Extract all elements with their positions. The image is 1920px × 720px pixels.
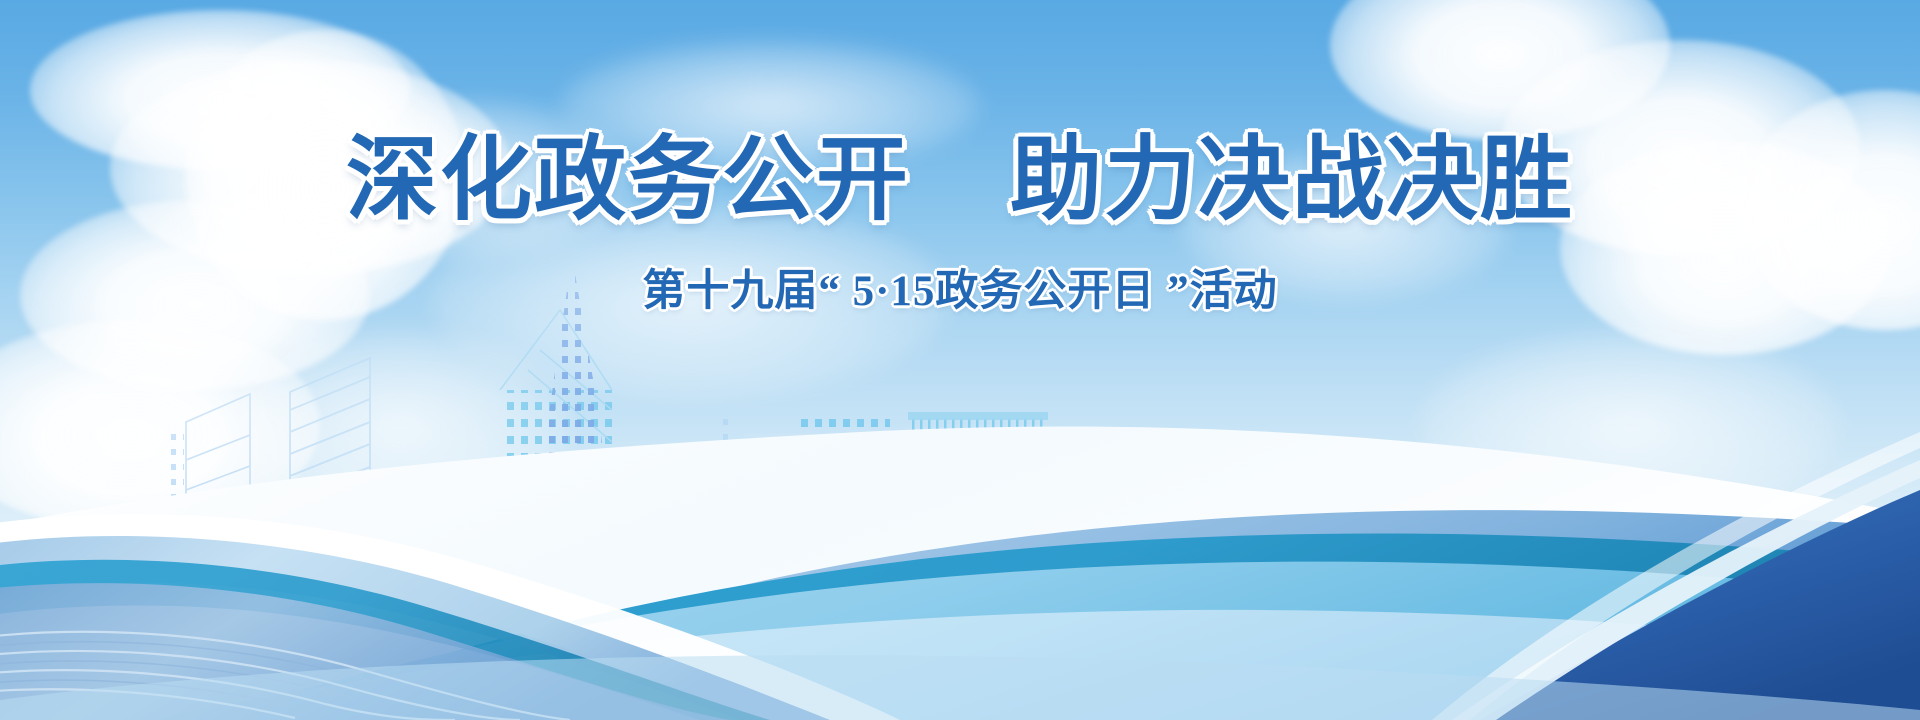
cloud-upper-left	[30, 10, 410, 170]
wave-decoration	[0, 320, 1920, 720]
cloud-top-right	[1330, 0, 1670, 140]
banner-root: 深化政务公开 助力决战决胜 第十九届“ 5·15政务公开日 ”活动	[0, 0, 1920, 720]
cloud-center-wisp	[560, 40, 980, 170]
